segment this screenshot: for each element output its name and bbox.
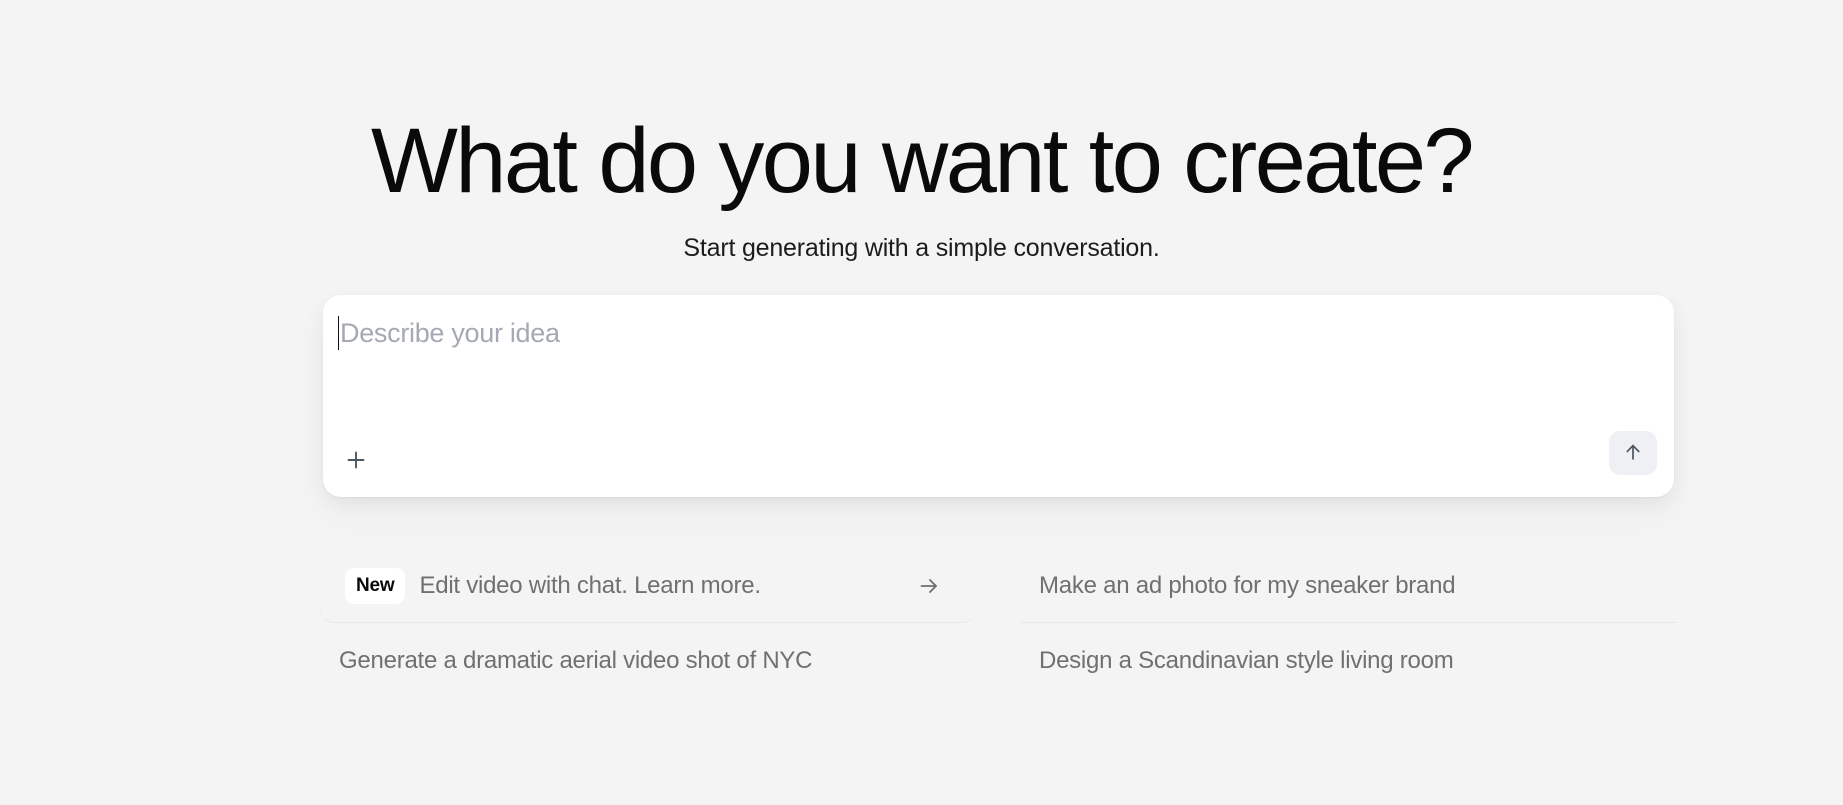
page-subtitle: Start generating with a simple conversat… <box>0 232 1843 264</box>
suggestion-list: New Edit video with chat. Learn more. Ge… <box>320 548 1677 698</box>
suggestion-item-living-room[interactable]: Design a Scandinavian style living room <box>1020 623 1677 698</box>
suggestion-label: Edit video with chat. Learn more. <box>419 571 760 601</box>
suggestion-item-new-feature[interactable]: New Edit video with chat. Learn more. <box>320 548 977 623</box>
prompt-input-area[interactable]: Describe your idea <box>338 313 1650 373</box>
suggestion-item-ad-photo[interactable]: Make an ad photo for my sneaker brand <box>1020 548 1677 623</box>
arrow-right-icon <box>917 574 941 598</box>
suggestion-item-aerial-video[interactable]: Generate a dramatic aerial video shot of… <box>320 623 977 698</box>
suggestion-label: Generate a dramatic aerial video shot of… <box>339 646 812 676</box>
send-prompt-button[interactable] <box>1609 431 1657 475</box>
suggestion-column-right: Make an ad photo for my sneaker brand De… <box>1020 548 1677 698</box>
add-attachment-button[interactable] <box>339 444 373 478</box>
status-badge: New <box>345 568 405 604</box>
prompt-composer-card: Describe your idea <box>323 295 1674 497</box>
suggestion-label: Design a Scandinavian style living room <box>1039 646 1453 676</box>
prompt-placeholder: Describe your idea <box>339 313 560 353</box>
plus-icon <box>344 448 368 475</box>
page-title: What do you want to create? <box>0 106 1843 216</box>
composer-toolbar <box>323 421 1674 497</box>
arrow-up-icon <box>1622 441 1644 466</box>
suggestion-label: Make an ad photo for my sneaker brand <box>1039 571 1455 601</box>
create-landing-page: What do you want to create? Start genera… <box>0 0 1843 805</box>
suggestion-column-left: New Edit video with chat. Learn more. Ge… <box>320 548 977 698</box>
